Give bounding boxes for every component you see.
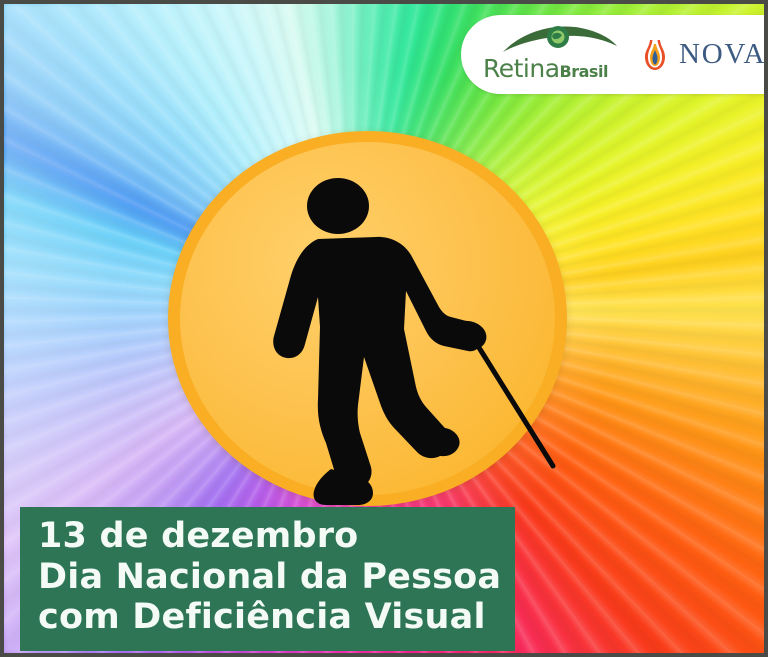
novartis-wordmark: NOVARTIS	[679, 38, 768, 71]
sponsor-logo-panel: RetinaBrasil NOVARTIS	[461, 15, 768, 94]
retina-brasil-logo: RetinaBrasil	[483, 23, 629, 87]
brasil-word: Brasil	[560, 62, 608, 81]
novartis-flame-icon	[643, 38, 667, 72]
white-cane	[478, 346, 553, 466]
retina-word: Retina	[483, 54, 560, 83]
eye-icon	[501, 25, 619, 55]
novartis-logo: NOVARTIS	[643, 38, 768, 72]
retina-brasil-wordmark: RetinaBrasil	[483, 56, 629, 81]
accessibility-emblem	[168, 131, 567, 506]
caption-box: 13 de dezembro Dia Nacional da Pessoa co…	[20, 507, 515, 651]
poster-canvas: RetinaBrasil NOVARTIS	[0, 0, 768, 657]
caption-line-title-2: com Deficiência Visual	[38, 597, 501, 638]
caption-line-date: 13 de dezembro	[38, 516, 501, 557]
blind-pedestrian-with-white-cane-icon	[168, 131, 567, 506]
caption-line-title-1: Dia Nacional da Pessoa	[38, 557, 501, 598]
